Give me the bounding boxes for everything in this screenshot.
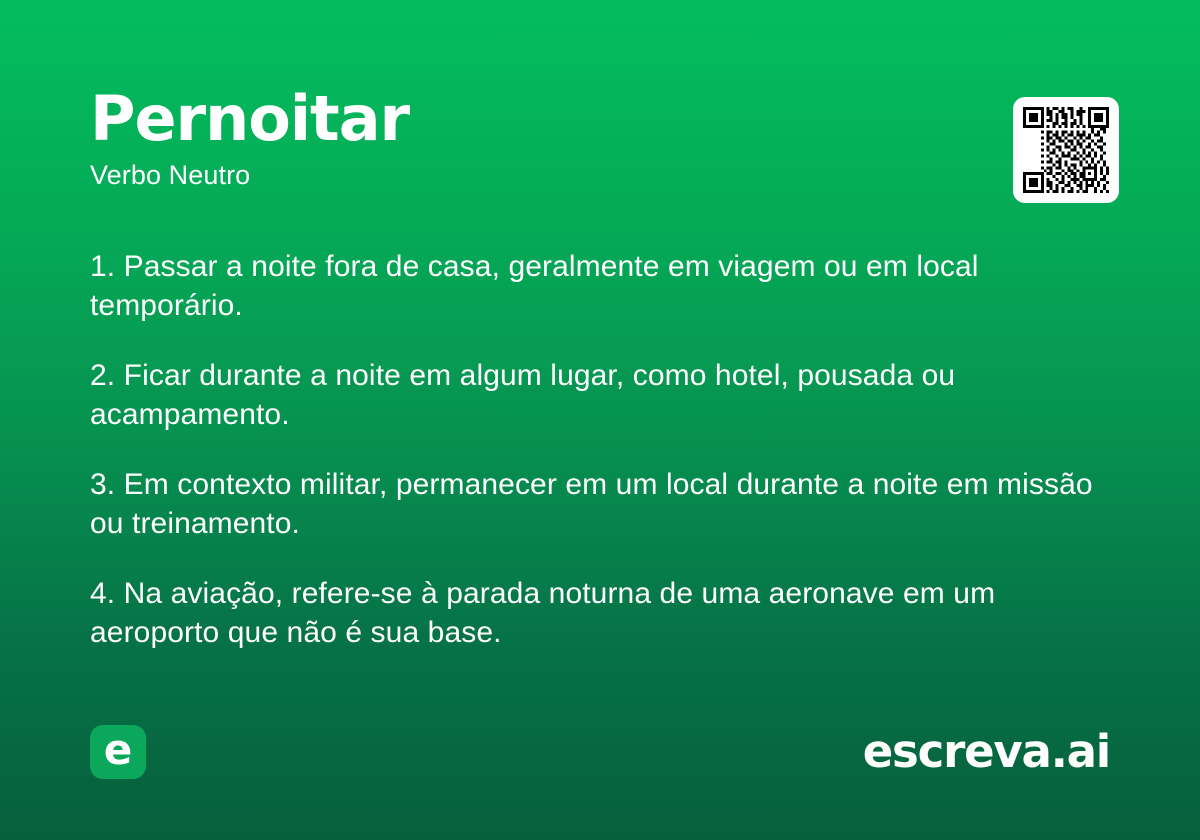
brand-wordmark: escreva.ai: [863, 727, 1110, 777]
card-header: Pernoitar Verbo Neutro: [90, 84, 1110, 192]
qr-code-card[interactable]: [1013, 97, 1119, 203]
qr-code-icon: [1023, 107, 1109, 193]
dictionary-card: Pernoitar Verbo Neutro: [0, 0, 1200, 840]
escreva-logo-icon: e: [90, 725, 146, 779]
definition-item: 4. Na aviação, refere-se à parada noturn…: [90, 574, 1112, 652]
definition-item: 2. Ficar durante a noite em algum lugar,…: [90, 356, 1112, 434]
definition-list: 1. Passar a noite fora de casa, geralmen…: [90, 247, 1112, 652]
definition-item: 1. Passar a noite fora de casa, geralmen…: [90, 247, 1112, 325]
logo-letter: e: [104, 729, 133, 771]
card-footer: e escreva.ai: [90, 725, 1110, 779]
definition-item: 3. Em contexto militar, permanecer em um…: [90, 465, 1112, 543]
word-class-label: Verbo Neutro: [90, 158, 1110, 192]
page-title: Pernoitar: [90, 84, 1110, 154]
